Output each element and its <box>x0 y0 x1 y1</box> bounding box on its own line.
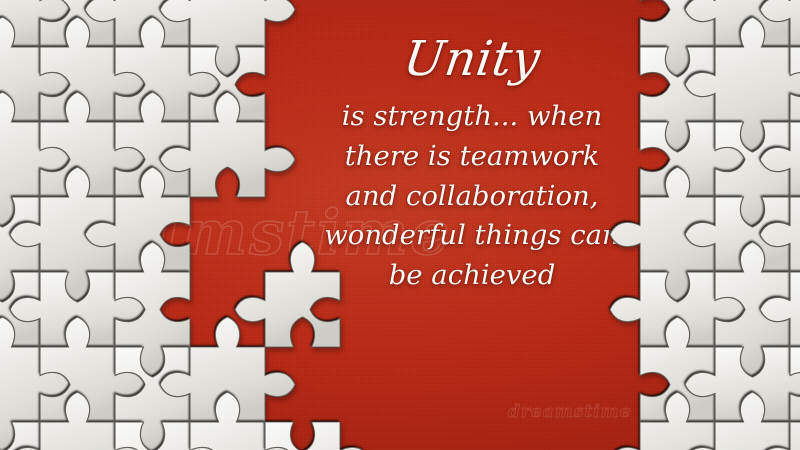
puzzle-piece <box>235 242 340 347</box>
jigsaw-puzzle-frame <box>0 0 800 450</box>
puzzle-piece <box>265 422 370 450</box>
puzzle-quote-image: dreamstime dreamstime Unity is strength.… <box>0 0 800 450</box>
